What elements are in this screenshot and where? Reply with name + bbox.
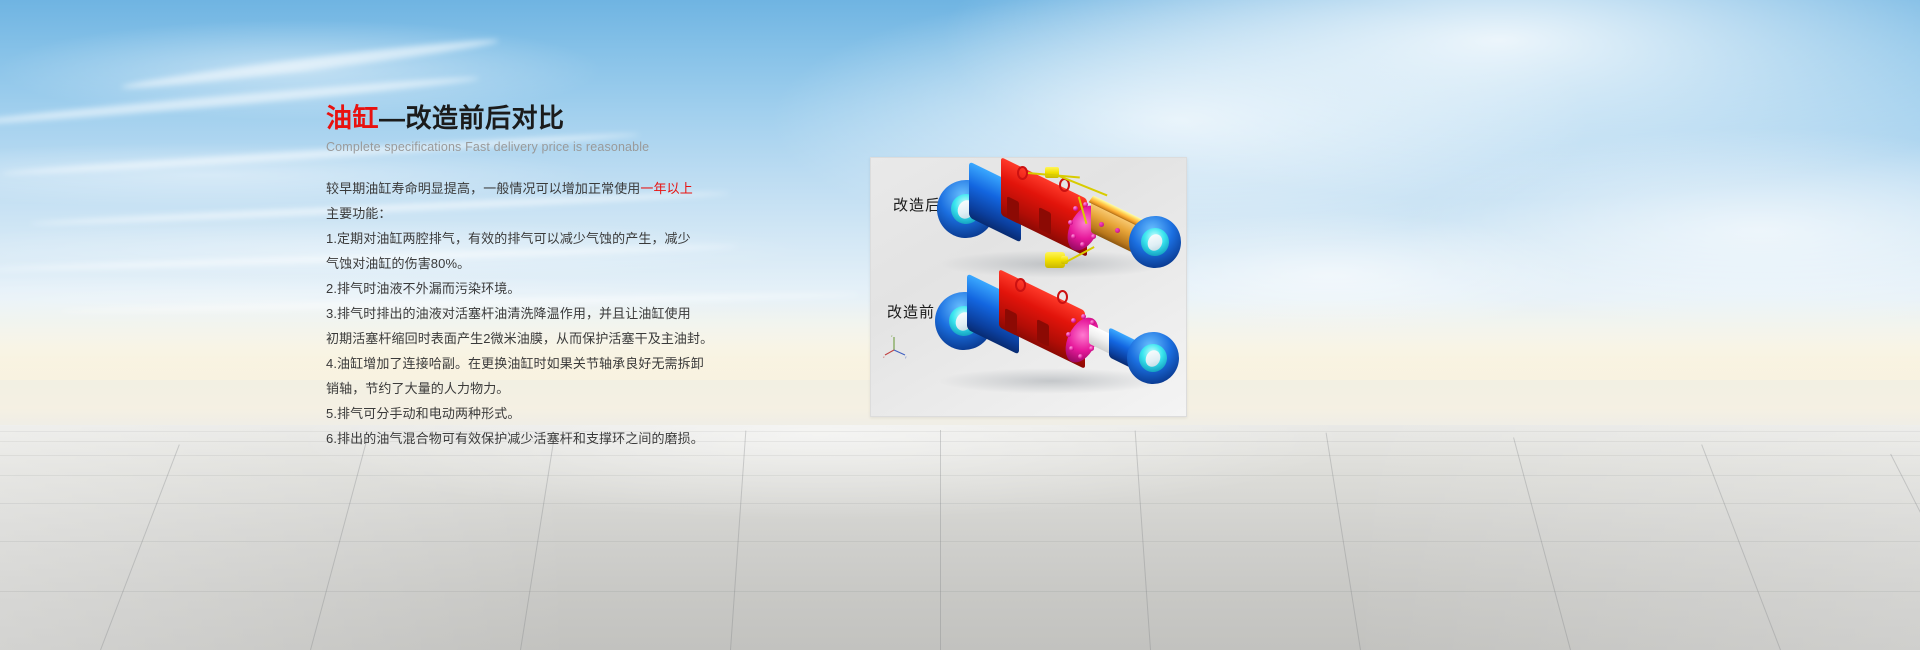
coordinate-triad-icon: z x y [883, 334, 909, 360]
page-title: 油缸—改造前后对比 [326, 104, 756, 134]
comparison-image-panel: 改造后 改造前 z x y [870, 157, 1187, 417]
body-line-text: 较早期油缸寿命明显提高，一般情况可以增加正常使用 [326, 181, 640, 196]
title-rest: —改造前后对比 [379, 103, 565, 133]
title-accent: 油缸 [326, 103, 379, 133]
cad-figure-before [931, 276, 1181, 396]
ground-highlight [0, 425, 1920, 650]
body-line: 气蚀对油缸的伤害80%。 [326, 251, 756, 276]
cad-figure-after [933, 166, 1183, 286]
page-subtitle: Complete specifications Fast delivery pr… [326, 140, 756, 154]
banner-stage: 油缸—改造前后对比 Complete specifications Fast d… [0, 0, 1920, 650]
body-line: 1.定期对油缸两腔排气，有效的排气可以减少气蚀的产生，减少 [326, 226, 756, 251]
svg-text:y: y [905, 355, 907, 359]
body-line: 销轴，节约了大量的人力物力。 [326, 376, 756, 401]
body-line: 4.油缸增加了连接哈副。在更换油缸时如果关节轴承良好无需拆卸 [326, 351, 756, 376]
label-before-modification: 改造前 [887, 301, 935, 322]
body-line: 初期活塞杆缩回时表面产生2微米油膜，从而保护活塞干及主油封。 [326, 326, 756, 351]
body-line: 6.排出的油气混合物可有效保护减少活塞杆和支撑环之间的磨损。 [326, 426, 756, 451]
body-line: 2.排气时油液不外漏而污染环境。 [326, 276, 756, 301]
body-line: 较早期油缸寿命明显提高，一般情况可以增加正常使用一年以上 [326, 176, 756, 201]
svg-text:x: x [883, 355, 885, 359]
feature-text-block: 较早期油缸寿命明显提高，一般情况可以增加正常使用一年以上 主要功能： 1.定期对… [326, 176, 756, 451]
ground-plane [0, 425, 1920, 650]
svg-text:z: z [891, 334, 893, 338]
body-line: 3.排气时排出的油液对活塞杆油清洗降温作用，并且让油缸使用 [326, 301, 756, 326]
body-line: 5.排气可分手动和电动两种形式。 [326, 401, 756, 426]
body-line: 主要功能： [326, 201, 756, 226]
banner-content: 油缸—改造前后对比 Complete specifications Fast d… [326, 104, 756, 451]
body-line-highlight: 一年以上 [640, 181, 692, 196]
